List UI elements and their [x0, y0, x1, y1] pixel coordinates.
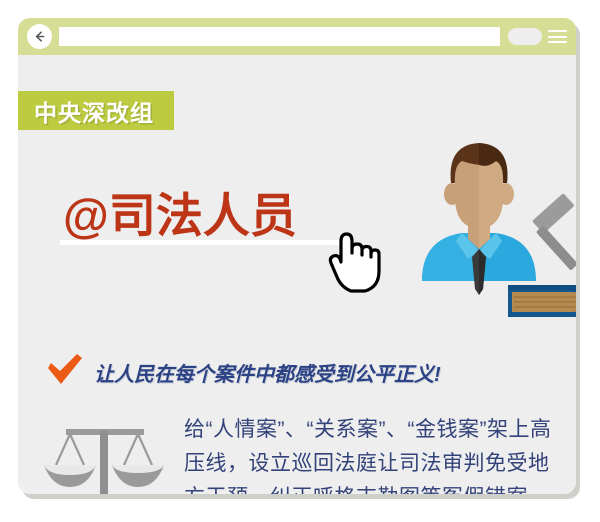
judicial-officer-illustration [414, 139, 576, 329]
back-arrow-icon [32, 29, 47, 44]
screenshot-root: 中央深改组 @司法人员 [0, 0, 600, 522]
page-content: 中央深改组 @司法人员 [18, 55, 576, 494]
menu-button[interactable] [548, 28, 567, 45]
slogan-row: 让人民在每个案件中都感受到公平正义! [46, 353, 441, 392]
back-button[interactable] [27, 24, 52, 49]
browser-toolbar [18, 18, 576, 55]
slogan-text: 让人民在每个案件中都感受到公平正义! [94, 358, 441, 387]
pointing-hand-cursor-icon [327, 225, 387, 302]
page-title: @司法人员 [63, 177, 297, 246]
ribbon-label: 中央深改组 [34, 94, 154, 128]
ribbon-body: 中央深改组 [18, 91, 174, 130]
address-bar-input[interactable] [59, 27, 500, 46]
tab-count-button[interactable] [508, 28, 542, 45]
scales-of-justice-icon [40, 413, 168, 494]
category-ribbon: 中央深改组 [18, 91, 174, 130]
judicial-officer-avatar-icon [422, 143, 536, 295]
body-paragraph: 给“人情案”、“关系案”、“金钱案”架上高压线，设立巡回法庭让司法审判免受地方干… [184, 413, 554, 494]
orange-check-icon [46, 353, 84, 392]
gavel-icon [532, 193, 576, 271]
browser-card: 中央深改组 @司法人员 [18, 18, 576, 494]
law-book-icon [508, 285, 576, 317]
